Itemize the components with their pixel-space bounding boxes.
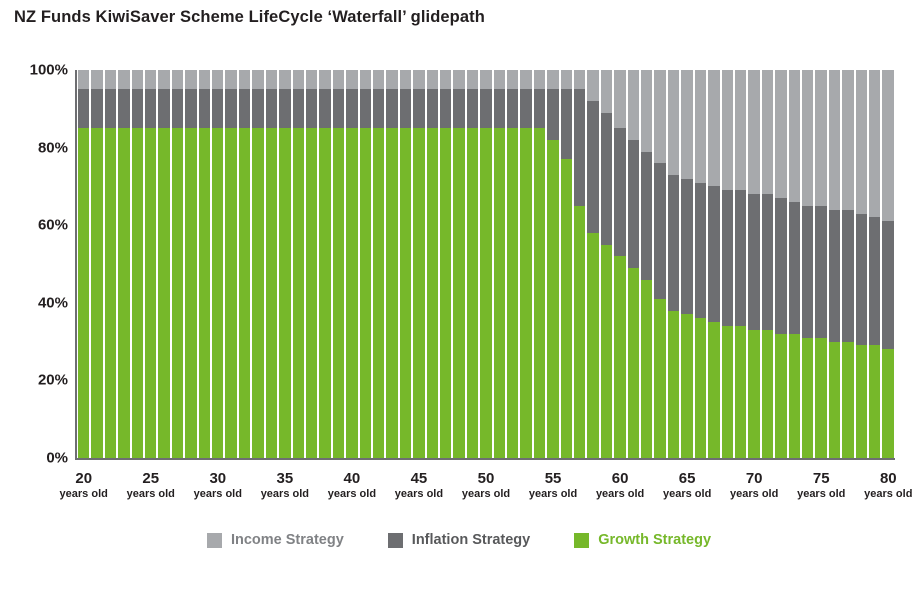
bar-column[interactable]	[506, 70, 519, 458]
x-axis-tick: 60years old	[596, 470, 644, 502]
bar-segment	[333, 89, 344, 128]
bar-segment	[185, 128, 196, 458]
legend-item[interactable]: Income Strategy	[207, 532, 344, 548]
bar-segment	[440, 89, 451, 128]
bar-segment	[360, 128, 371, 458]
bar-column[interactable]	[707, 70, 720, 458]
bar-segment	[266, 128, 277, 458]
bar-segment	[507, 70, 518, 89]
bar-segment	[252, 89, 263, 128]
bar-segment	[212, 128, 223, 458]
bar-segment	[158, 128, 169, 458]
bar-segment	[225, 70, 236, 89]
x-axis-tick: 80years old	[864, 470, 912, 502]
x-axis-tick: 45years old	[395, 470, 443, 502]
bar-segment	[735, 326, 746, 458]
bar-segment	[467, 70, 478, 89]
bar-segment	[748, 194, 759, 330]
bar-segment	[869, 217, 880, 345]
bar-segment	[319, 89, 330, 128]
bar-column[interactable]	[305, 70, 318, 458]
bar-segment	[815, 338, 826, 458]
bar-segment	[373, 128, 384, 458]
x-axis-tick-unit: years old	[462, 487, 510, 502]
bar-segment	[587, 233, 598, 458]
x-axis-tick-age: 80	[864, 470, 912, 487]
bar-segment	[319, 128, 330, 458]
bar-column[interactable]	[533, 70, 546, 458]
bar-column[interactable]	[466, 70, 479, 458]
bar-segment	[319, 70, 330, 89]
bar-segment	[266, 89, 277, 128]
bar-segment	[427, 128, 438, 458]
x-axis-tick: 40years old	[328, 470, 376, 502]
bar-segment	[494, 128, 505, 458]
bar-segment	[708, 70, 719, 186]
bar-column[interactable]	[546, 70, 559, 458]
bar-segment	[668, 70, 679, 175]
x-axis-tick-age: 75	[797, 470, 845, 487]
bar-segment	[413, 128, 424, 458]
bar-column[interactable]	[479, 70, 492, 458]
legend-item[interactable]: Inflation Strategy	[388, 532, 530, 548]
bar-segment	[386, 128, 397, 458]
bar-segment	[346, 70, 357, 89]
bar-segment	[78, 128, 89, 458]
y-axis: 0%20%40%60%80%100%	[0, 58, 68, 458]
bar-segment	[748, 330, 759, 458]
bar-segment	[641, 152, 652, 280]
x-axis-tick: 70years old	[730, 470, 778, 502]
bar-column[interactable]	[251, 70, 264, 458]
bar-column[interactable]	[600, 70, 613, 458]
bar-segment	[628, 140, 639, 268]
bar-segment	[172, 89, 183, 128]
x-axis-tick-unit: years old	[261, 487, 309, 502]
y-axis-tick-label: 0%	[0, 450, 68, 467]
bar-segment	[614, 70, 625, 128]
bar-segment	[453, 128, 464, 458]
bar-segment	[346, 128, 357, 458]
bar-segment	[574, 70, 585, 89]
bar-segment	[212, 70, 223, 89]
bar-segment	[547, 70, 558, 89]
bar-segment	[440, 70, 451, 89]
bar-segment	[842, 70, 853, 210]
bar-column[interactable]	[841, 70, 854, 458]
bar-segment	[641, 280, 652, 458]
bar-segment	[225, 89, 236, 128]
x-axis-tick-unit: years old	[328, 487, 376, 502]
x-axis-tick: 35years old	[261, 470, 309, 502]
bar-segment	[293, 70, 304, 89]
bar-segment	[185, 70, 196, 89]
bar-segment	[520, 89, 531, 128]
bar-segment	[132, 128, 143, 458]
bar-segment	[534, 70, 545, 89]
bar-segment	[480, 70, 491, 89]
bar-segment	[413, 70, 424, 89]
x-axis-tick-unit: years old	[797, 487, 845, 502]
bar-segment	[708, 322, 719, 458]
bar-column[interactable]	[211, 70, 224, 458]
bar-segment	[172, 70, 183, 89]
legend-item-label: Income Strategy	[231, 532, 344, 548]
x-axis-tick: 20years old	[60, 470, 108, 502]
bar-segment	[145, 128, 156, 458]
bar-segment	[802, 206, 813, 338]
bar-segment	[815, 206, 826, 338]
x-axis-tick-age: 40	[328, 470, 376, 487]
bar-segment	[400, 70, 411, 89]
bar-segment	[158, 89, 169, 128]
bar-segment	[427, 70, 438, 89]
legend-swatch-icon	[574, 533, 589, 548]
bar-segment	[654, 70, 665, 163]
bar-segment	[440, 128, 451, 458]
bar-segment	[614, 128, 625, 256]
bar-segment	[829, 342, 840, 458]
bar-segment	[775, 334, 786, 458]
x-axis-tick-unit: years old	[663, 487, 711, 502]
bar-segment	[78, 89, 89, 128]
bar-segment	[762, 194, 773, 330]
bar-column[interactable]	[278, 70, 291, 458]
x-axis-tick: 75years old	[797, 470, 845, 502]
bar-column[interactable]	[881, 70, 894, 458]
bar-column[interactable]	[493, 70, 506, 458]
x-axis-tick-age: 45	[395, 470, 443, 487]
bar-column[interactable]	[144, 70, 157, 458]
x-axis-tick-age: 25	[127, 470, 175, 487]
bar-column[interactable]	[131, 70, 144, 458]
bar-column[interactable]	[680, 70, 693, 458]
bar-segment	[789, 202, 800, 334]
x-axis-tick-age: 30	[194, 470, 242, 487]
bar-column[interactable]	[157, 70, 170, 458]
bar-segment	[882, 70, 893, 221]
bar-segment	[118, 89, 129, 128]
bar-column[interactable]	[627, 70, 640, 458]
bar-segment	[762, 330, 773, 458]
bar-segment	[681, 314, 692, 458]
bar-column[interactable]	[198, 70, 211, 458]
bar-segment	[574, 89, 585, 205]
x-axis-tick: 50years old	[462, 470, 510, 502]
bar-segment	[722, 70, 733, 190]
bar-column[interactable]	[359, 70, 372, 458]
bar-segment	[467, 89, 478, 128]
bar-segment	[91, 128, 102, 458]
bar-segment	[239, 89, 250, 128]
bar-column[interactable]	[292, 70, 305, 458]
x-axis-tick: 55years old	[529, 470, 577, 502]
x-axis-tick-unit: years old	[395, 487, 443, 502]
bar-segment	[252, 128, 263, 458]
bar-segment	[118, 128, 129, 458]
bar-segment	[333, 70, 344, 89]
bar-segment	[708, 186, 719, 322]
bar-segment	[574, 206, 585, 458]
bar-segment	[118, 70, 129, 89]
bar-column[interactable]	[801, 70, 814, 458]
bar-segment	[561, 159, 572, 458]
bar-segment	[252, 70, 263, 89]
bar-segment	[360, 89, 371, 128]
bar-segment	[225, 128, 236, 458]
bar-segment	[842, 210, 853, 342]
x-axis-tick-age: 50	[462, 470, 510, 487]
bar-column[interactable]	[560, 70, 573, 458]
bar-column[interactable]	[828, 70, 841, 458]
bar-segment	[520, 128, 531, 458]
y-axis-tick-label: 60%	[0, 217, 68, 234]
x-axis-tick-age: 70	[730, 470, 778, 487]
bar-segment	[306, 89, 317, 128]
bar-column[interactable]	[761, 70, 774, 458]
bar-column[interactable]	[747, 70, 760, 458]
x-axis-tick: 30years old	[194, 470, 242, 502]
x-axis-tick-unit: years old	[60, 487, 108, 502]
bar-segment	[601, 113, 612, 245]
bar-segment	[842, 342, 853, 458]
bar-segment	[668, 175, 679, 311]
legend-swatch-icon	[207, 533, 222, 548]
bar-segment	[668, 311, 679, 458]
bar-column[interactable]	[238, 70, 251, 458]
legend-item-label: Growth Strategy	[598, 532, 711, 548]
legend-item-label: Inflation Strategy	[412, 532, 530, 548]
bar-column[interactable]	[452, 70, 465, 458]
bar-segment	[587, 101, 598, 233]
bar-segment	[494, 89, 505, 128]
bar-segment	[882, 221, 893, 349]
bar-segment	[105, 70, 116, 89]
bar-segment	[869, 70, 880, 217]
bar-segment	[105, 128, 116, 458]
bar-segment	[802, 70, 813, 206]
bar-segment	[695, 183, 706, 319]
bar-segment	[507, 128, 518, 458]
bar-segment	[145, 89, 156, 128]
x-axis-tick-age: 60	[596, 470, 644, 487]
bar-segment	[105, 89, 116, 128]
bar-segment	[534, 89, 545, 128]
bar-segment	[145, 70, 156, 89]
bar-column[interactable]	[224, 70, 237, 458]
bar-segment	[185, 89, 196, 128]
bar-segment	[91, 89, 102, 128]
bar-segment	[775, 198, 786, 334]
bar-column[interactable]	[586, 70, 599, 458]
bar-column[interactable]	[265, 70, 278, 458]
x-axis-tick-unit: years old	[529, 487, 577, 502]
bar-column[interactable]	[184, 70, 197, 458]
x-axis: 20years old25years old30years old35years…	[0, 470, 918, 518]
stacked-bar-series	[77, 70, 895, 458]
bar-column[interactable]	[372, 70, 385, 458]
x-axis-tick-unit: years old	[730, 487, 778, 502]
bar-segment	[628, 70, 639, 140]
bar-segment	[293, 89, 304, 128]
bar-segment	[882, 349, 893, 458]
bar-segment	[386, 70, 397, 89]
bar-segment	[279, 128, 290, 458]
bar-segment	[628, 268, 639, 458]
bar-segment	[762, 70, 773, 194]
plot-area	[75, 70, 895, 458]
bar-segment	[413, 89, 424, 128]
bar-segment	[199, 128, 210, 458]
bar-column[interactable]	[171, 70, 184, 458]
bar-segment	[601, 70, 612, 113]
bar-segment	[869, 345, 880, 458]
bar-column[interactable]	[412, 70, 425, 458]
bar-segment	[561, 70, 572, 89]
bar-column[interactable]	[77, 70, 90, 458]
bar-column[interactable]	[774, 70, 787, 458]
bar-segment	[400, 128, 411, 458]
bar-segment	[695, 318, 706, 458]
bar-segment	[132, 89, 143, 128]
bar-segment	[158, 70, 169, 89]
bar-column[interactable]	[90, 70, 103, 458]
bar-column[interactable]	[868, 70, 881, 458]
bar-column[interactable]	[439, 70, 452, 458]
bar-segment	[453, 70, 464, 89]
x-axis-tick-age: 65	[663, 470, 711, 487]
bar-segment	[547, 89, 558, 139]
bar-segment	[172, 128, 183, 458]
bar-segment	[722, 326, 733, 458]
bar-column[interactable]	[104, 70, 117, 458]
bar-segment	[856, 345, 867, 458]
x-axis-tick-age: 35	[261, 470, 309, 487]
bar-segment	[815, 70, 826, 206]
bar-segment	[681, 70, 692, 179]
bar-segment	[199, 70, 210, 89]
bar-column[interactable]	[721, 70, 734, 458]
bar-column[interactable]	[653, 70, 666, 458]
bar-segment	[735, 70, 746, 190]
bar-column[interactable]	[573, 70, 586, 458]
bar-segment	[132, 70, 143, 89]
chart-plot-wrapper: 0%20%40%60%80%100%	[0, 58, 918, 470]
bar-column[interactable]	[734, 70, 747, 458]
bar-segment	[279, 89, 290, 128]
bar-column[interactable]	[613, 70, 626, 458]
bar-segment	[547, 140, 558, 458]
bar-segment	[587, 70, 598, 101]
bar-segment	[494, 70, 505, 89]
page-title: NZ Funds KiwiSaver Scheme LifeCycle ‘Wat…	[14, 8, 485, 27]
bar-segment	[789, 334, 800, 458]
bar-segment	[654, 299, 665, 458]
bar-segment	[507, 89, 518, 128]
bar-column[interactable]	[385, 70, 398, 458]
chart-legend: Income StrategyInflation StrategyGrowth …	[0, 532, 918, 548]
bar-column[interactable]	[332, 70, 345, 458]
bar-segment	[91, 70, 102, 89]
bar-column[interactable]	[426, 70, 439, 458]
x-axis-tick-age: 55	[529, 470, 577, 487]
bar-column[interactable]	[788, 70, 801, 458]
bar-column[interactable]	[855, 70, 868, 458]
bar-segment	[453, 89, 464, 128]
bar-segment	[467, 128, 478, 458]
bar-segment	[520, 70, 531, 89]
bar-segment	[427, 89, 438, 128]
bar-segment	[266, 70, 277, 89]
x-axis-tick-unit: years old	[864, 487, 912, 502]
bar-segment	[373, 89, 384, 128]
bar-column[interactable]	[814, 70, 827, 458]
x-axis-tick: 25years old	[127, 470, 175, 502]
bar-segment	[775, 70, 786, 198]
bar-segment	[480, 128, 491, 458]
bar-segment	[78, 70, 89, 89]
bar-segment	[802, 338, 813, 458]
x-axis-tick: 65years old	[663, 470, 711, 502]
bar-segment	[306, 128, 317, 458]
bar-column[interactable]	[640, 70, 653, 458]
legend-swatch-icon	[388, 533, 403, 548]
bar-segment	[654, 163, 665, 299]
bar-column[interactable]	[318, 70, 331, 458]
bar-segment	[199, 89, 210, 128]
bar-segment	[279, 70, 290, 89]
y-axis-tick-label: 80%	[0, 139, 68, 156]
bar-segment	[856, 214, 867, 346]
bar-segment	[856, 70, 867, 214]
bar-segment	[695, 70, 706, 183]
bar-column[interactable]	[345, 70, 358, 458]
bar-segment	[306, 70, 317, 89]
x-axis-tick-age: 20	[60, 470, 108, 487]
bar-segment	[346, 89, 357, 128]
bar-column[interactable]	[694, 70, 707, 458]
bar-segment	[735, 190, 746, 326]
bar-segment	[239, 128, 250, 458]
bar-segment	[601, 245, 612, 458]
bar-segment	[748, 70, 759, 194]
bar-column[interactable]	[399, 70, 412, 458]
bar-segment	[360, 70, 371, 89]
bar-column[interactable]	[667, 70, 680, 458]
x-axis-tick-unit: years old	[127, 487, 175, 502]
bar-segment	[681, 179, 692, 315]
y-axis-tick-label: 40%	[0, 294, 68, 311]
x-axis-line	[75, 458, 895, 460]
bar-segment	[534, 128, 545, 458]
bar-segment	[614, 256, 625, 458]
bar-segment	[789, 70, 800, 202]
bar-segment	[373, 70, 384, 89]
bar-column[interactable]	[117, 70, 130, 458]
bar-segment	[480, 89, 491, 128]
bar-segment	[641, 70, 652, 151]
x-axis-tick-unit: years old	[194, 487, 242, 502]
x-axis-tick-unit: years old	[596, 487, 644, 502]
bar-segment	[400, 89, 411, 128]
bar-segment	[212, 89, 223, 128]
bar-segment	[293, 128, 304, 458]
bar-segment	[386, 89, 397, 128]
legend-item[interactable]: Growth Strategy	[574, 532, 711, 548]
bar-segment	[239, 70, 250, 89]
bar-segment	[722, 190, 733, 326]
bar-column[interactable]	[519, 70, 532, 458]
